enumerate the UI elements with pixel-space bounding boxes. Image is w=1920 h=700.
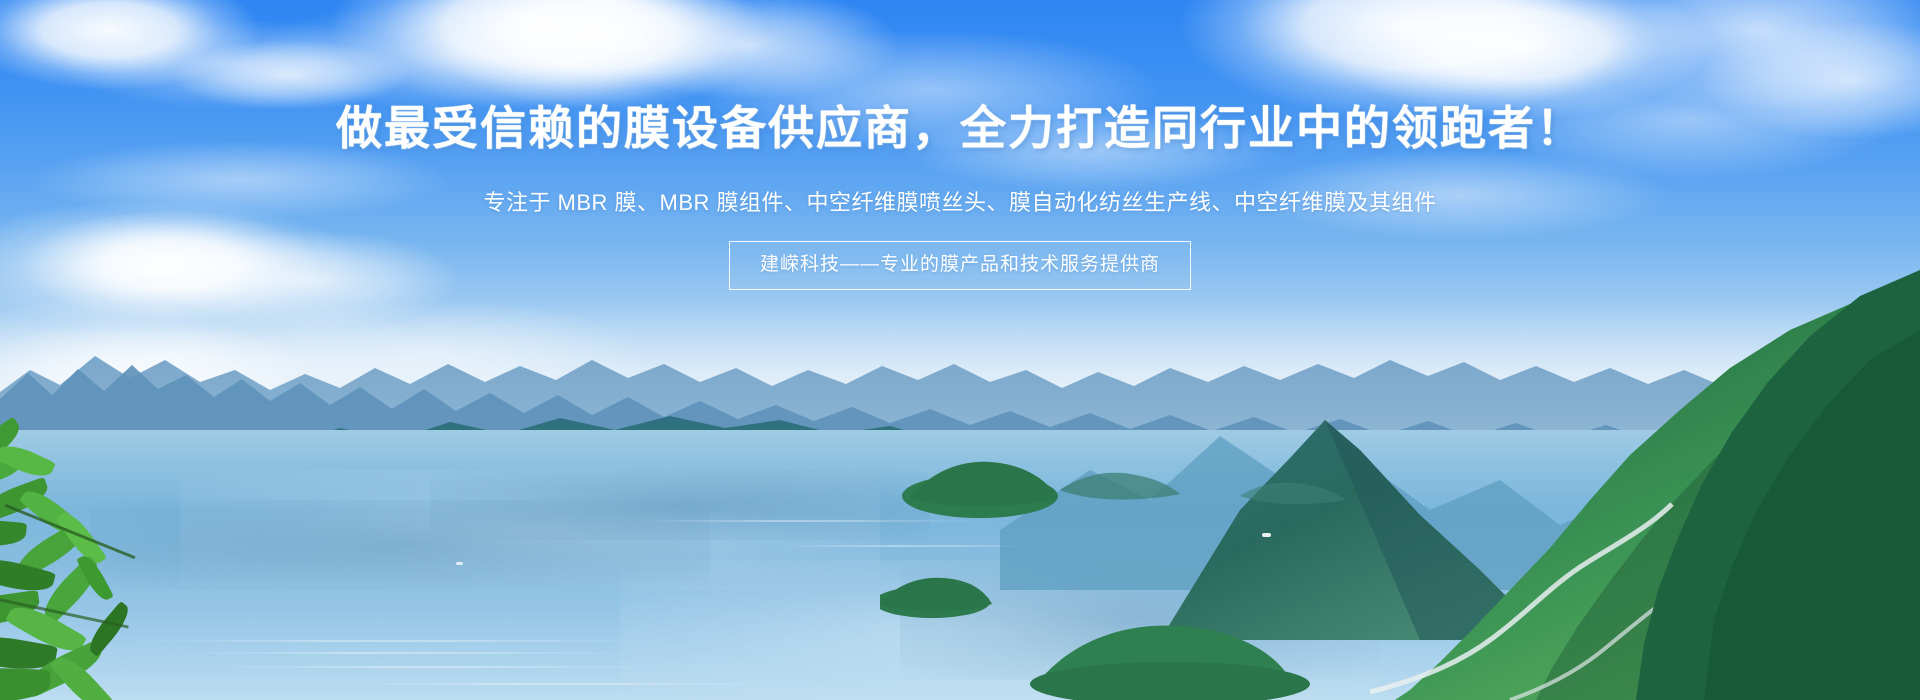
banner-tagline-box: 建嵘科技——专业的膜产品和技术服务提供商 — [729, 241, 1191, 290]
boat — [1262, 533, 1271, 537]
lake-water — [0, 430, 1920, 700]
banner-headline: 做最受信赖的膜设备供应商，全力打造同行业中的领跑者！ — [0, 99, 1920, 157]
boat — [456, 562, 463, 565]
banner-tagline-wrapper: 建嵘科技——专业的膜产品和技术服务提供商 — [0, 241, 1920, 290]
foreground-tree — [0, 410, 220, 700]
hero-banner: 做最受信赖的膜设备供应商，全力打造同行业中的领跑者！ 专注于 MBR 膜、MBR… — [0, 0, 1920, 700]
tree-branch — [0, 594, 129, 628]
tree-branch — [5, 504, 136, 559]
banner-subheadline: 专注于 MBR 膜、MBR 膜组件、中空纤维膜喷丝头、膜自动化纺丝生产线、中空纤… — [0, 186, 1920, 220]
